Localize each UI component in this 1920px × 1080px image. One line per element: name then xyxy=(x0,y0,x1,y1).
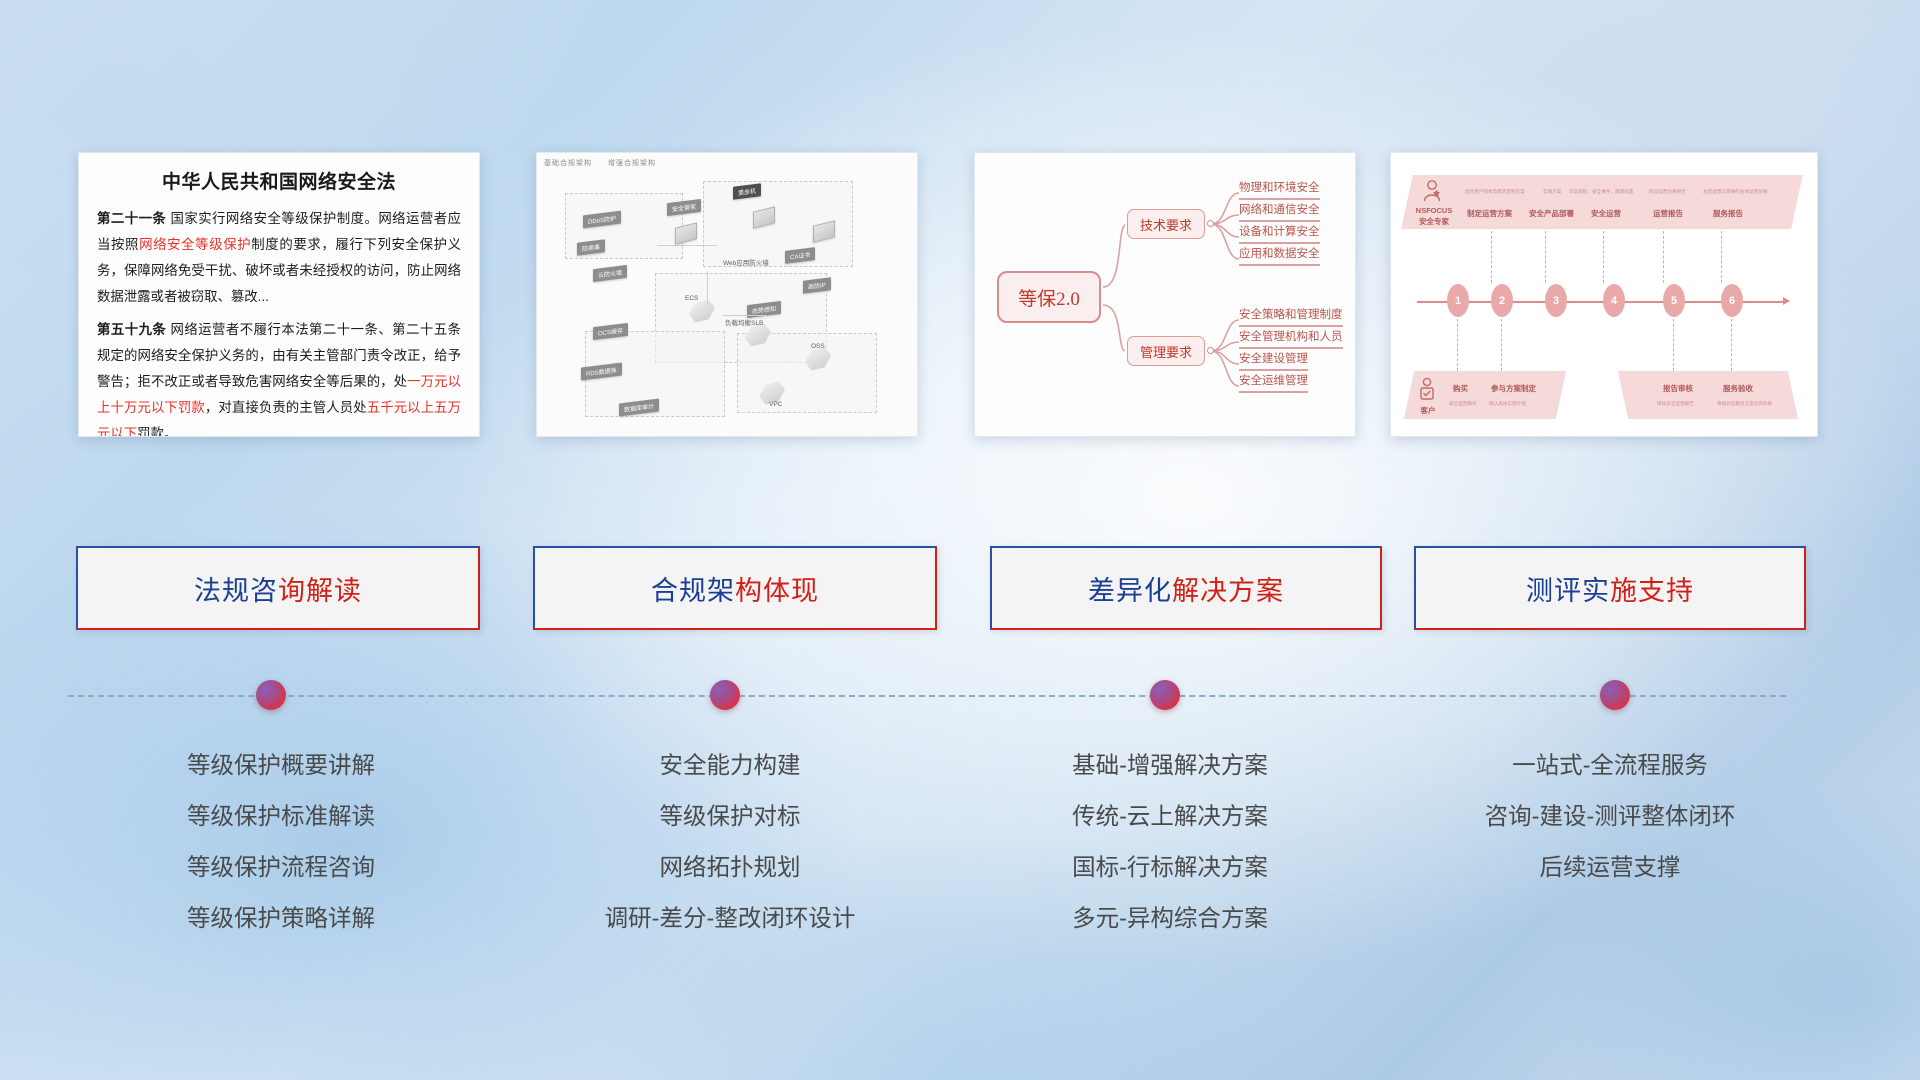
mindmap-canvas: 等保2.0 技术要求 管理要求 物理和环境安全 网络和通信安全 设备和计算安全 … xyxy=(975,153,1355,436)
timeline-dot-3[interactable] xyxy=(1150,680,1180,710)
detail-column-1: 等级保护概要讲解 等级保护标准解读 等级保护流程咨询 等级保护策略详解 xyxy=(96,740,466,944)
law-article-21-highlight: 网络安全等级保护 xyxy=(139,237,251,252)
section-title-box-3[interactable]: 差异化解决方案 xyxy=(990,546,1382,630)
arch-chip-security-butler: 安全管家 xyxy=(667,199,701,216)
mindmap-dot-technical[interactable] xyxy=(1207,220,1214,227)
section-title-text-4: 测评实施支持 xyxy=(1526,569,1694,608)
arch-text-vpc: VPC xyxy=(769,401,782,408)
nsfocus-top-title-2: 安全产品部署 xyxy=(1529,208,1574,219)
mindmap-leaf-ops-mgmt: 安全运维管理 xyxy=(1239,372,1308,393)
section-title-2-red: 构体现 xyxy=(735,576,819,606)
section-title-2-blue: 合规架 xyxy=(651,576,735,606)
nsfocus-top-sub-2: 实施方案 xyxy=(1543,189,1561,195)
nsfocus-bottom-sub-3: 审核安全运营报告 xyxy=(1657,401,1694,407)
nsfocus-customer-label: 客户 xyxy=(1411,405,1445,416)
arch-label-enhanced: 增强合规架构 xyxy=(608,160,656,167)
nsfocus-bottom-band-right xyxy=(1618,371,1798,419)
section-title-3-blue: 差异化 xyxy=(1088,576,1172,606)
section-title-1-red: 询解读 xyxy=(278,576,362,606)
nsfocus-step-number-3[interactable]: 3 xyxy=(1545,284,1567,317)
arch-connector-1 xyxy=(657,245,717,246)
card-nsfocus-timeline[interactable]: NSFOCUS 安全专家 结合客户现状及需求定制方案 制定运营方案 实施方案 安… xyxy=(1390,152,1818,437)
nsfocus-top-sub-4: 阶段运营效果报告 xyxy=(1649,189,1686,195)
mindmap-root-node[interactable]: 等保2.0 xyxy=(997,271,1101,323)
law-document: 中华人民共和国网络安全法 第二十一条 国家实行网络安全等级保护制度。网络运营者应… xyxy=(79,153,479,437)
section-title-box-4[interactable]: 测评实施支持 xyxy=(1414,546,1806,630)
mindmap-leaf-network-comm: 网络和通信安全 xyxy=(1239,201,1320,222)
nsfocus-tick-b3 xyxy=(1673,319,1674,371)
list-item: 一站式-全流程服务 xyxy=(1425,740,1795,791)
nsfocus-top-sub-1: 结合客户现状及需求定制方案 xyxy=(1465,189,1525,195)
nsfocus-bottom-sub-1: 安全运营服务 xyxy=(1449,401,1477,407)
list-item: 调研-差分-整改闭环设计 xyxy=(545,893,915,944)
timeline-dot-4[interactable] xyxy=(1600,680,1630,710)
nsfocus-step-number-5[interactable]: 5 xyxy=(1663,284,1685,317)
nsfocus-bottom-title-1: 购买 xyxy=(1453,383,1468,394)
list-item: 等级保护概要讲解 xyxy=(96,740,466,791)
arch-connector-3 xyxy=(723,315,767,316)
arch-text-waf: Web应用防火墙 xyxy=(723,257,769,267)
arch-text-oss: OSS xyxy=(811,343,825,350)
mindmap-leaf-construction-mgmt: 安全建设管理 xyxy=(1239,350,1308,371)
timeline-dashed-line xyxy=(68,695,1786,697)
detail-column-3: 基础-增强解决方案 传统-云上解决方案 国标-行标解决方案 多元-异构综合方案 xyxy=(985,740,1355,944)
mindmap-leaf-device-compute: 设备和计算安全 xyxy=(1239,223,1320,244)
section-title-1-blue: 法规咨 xyxy=(194,576,278,606)
card-cybersecurity-law[interactable]: 中华人民共和国网络安全法 第二十一条 国家实行网络安全等级保护制度。网络运营者应… xyxy=(78,152,480,437)
list-item: 基础-增强解决方案 xyxy=(985,740,1355,791)
list-item: 网络拓扑规划 xyxy=(545,842,915,893)
nsfocus-step-number-2[interactable]: 2 xyxy=(1491,284,1513,317)
law-article-59: 第五十九条 网络运营者不履行本法第二十一条、第二十五条规定的网络安全保护义务的，… xyxy=(97,317,461,437)
law-title: 中华人民共和国网络安全法 xyxy=(97,167,461,194)
law-article-21: 第二十一条 国家实行网络安全等级保护制度。网络运营者应当按照网络安全等级保护制度… xyxy=(97,206,461,310)
nsfocus-top-title-1: 制定运营方案 xyxy=(1467,208,1512,219)
nsfocus-step-number-4[interactable]: 4 xyxy=(1603,284,1625,317)
law-article-59-label: 第五十九条 xyxy=(97,322,166,337)
mindmap-leaf-policy-system: 安全策略和管理制度 xyxy=(1239,306,1343,327)
nsfocus-tick-5 xyxy=(1721,231,1722,283)
nsfocus-top-title-4: 运营报告 xyxy=(1653,208,1683,219)
architecture-canvas: 基础合规架构增强合规架构 堡垒机 安全管家 DDoS防护 防病毒 云防火墙 CA… xyxy=(537,153,917,436)
detail-column-4: 一站式-全流程服务 咨询-建设-测评整体闭环 后续运营支撑 xyxy=(1425,740,1795,893)
nsfocus-canvas: NSFOCUS 安全专家 结合客户现状及需求定制方案 制定运营方案 实施方案 安… xyxy=(1391,153,1817,436)
nsfocus-tick-3 xyxy=(1603,231,1604,283)
mindmap-branch-technical[interactable]: 技术要求 xyxy=(1127,209,1205,239)
nsfocus-brand: NSFOCUS xyxy=(1409,206,1459,215)
nsfocus-top-title-3: 安全运营 xyxy=(1591,208,1621,219)
nsfocus-top-band xyxy=(1401,175,1802,229)
mindmap-leaf-app-data: 应用和数据安全 xyxy=(1239,245,1320,266)
nsfocus-brand-sub: 安全专家 xyxy=(1409,216,1459,227)
mindmap-branch-management[interactable]: 管理要求 xyxy=(1127,336,1205,366)
arch-text-slb: 负载均衡SLB xyxy=(725,317,763,327)
arch-region-right xyxy=(737,333,877,413)
nsfocus-top-title-5: 服务报告 xyxy=(1713,208,1743,219)
nsfocus-bottom-title-3: 报告审核 xyxy=(1663,383,1693,394)
law-article-59-text-c: 罚款。 xyxy=(137,426,177,437)
detail-column-2: 安全能力构建 等级保护对标 网络拓扑规划 调研-差分-整改闭环设计 xyxy=(545,740,915,944)
section-title-box-2[interactable]: 合规架构体现 xyxy=(533,546,937,630)
list-item: 等级保护标准解读 xyxy=(96,791,466,842)
list-item: 等级保护流程咨询 xyxy=(96,842,466,893)
nsfocus-tick-b2 xyxy=(1501,319,1502,371)
arch-label-basic: 基础合规架构 xyxy=(544,160,592,167)
nsfocus-top-sub-3: 日常巡检、安全事件、漏洞处置 xyxy=(1569,189,1633,195)
nsfocus-bottom-sub-4: 审核验证服务方案达到效果 xyxy=(1717,401,1772,407)
list-item: 等级保护策略详解 xyxy=(96,893,466,944)
arch-connector-2 xyxy=(707,271,708,305)
law-article-21-label: 第二十一条 xyxy=(97,211,166,226)
list-item: 多元-异构综合方案 xyxy=(985,893,1355,944)
list-item: 传统-云上解决方案 xyxy=(985,791,1355,842)
list-item: 国标-行标解决方案 xyxy=(985,842,1355,893)
section-title-3-red: 解决方案 xyxy=(1172,576,1284,606)
customer-icon xyxy=(1417,377,1437,403)
list-item: 等级保护对标 xyxy=(545,791,915,842)
security-expert-icon xyxy=(1421,179,1443,205)
nsfocus-step-number-6[interactable]: 6 xyxy=(1721,284,1743,317)
nsfocus-bottom-title-2: 参与方案制定 xyxy=(1491,383,1536,394)
section-title-text-1: 法规咨询解读 xyxy=(194,569,362,608)
card-mindmap[interactable]: 等保2.0 技术要求 管理要求 物理和环境安全 网络和通信安全 设备和计算安全 … xyxy=(974,152,1356,437)
nsfocus-step-number-1[interactable]: 1 xyxy=(1447,284,1469,317)
section-title-text-2: 合规架构体现 xyxy=(651,569,819,608)
section-title-text-3: 差异化解决方案 xyxy=(1088,569,1284,608)
law-article-59-text-b: ，对直接负责的主管人员处 xyxy=(205,400,367,415)
nsfocus-tick-b1 xyxy=(1457,319,1458,371)
mindmap-leaf-org-personnel: 安全管理机构和人员 xyxy=(1239,328,1343,349)
arch-text-ecs: ECS xyxy=(685,295,698,302)
nsfocus-axis-arrow-icon xyxy=(1783,297,1790,305)
architecture-top-labels: 基础合规架构增强合规架构 xyxy=(544,158,672,168)
section-title-4-red: 施支持 xyxy=(1610,576,1694,606)
card-architecture-diagram[interactable]: 基础合规架构增强合规架构 堡垒机 安全管家 DDoS防护 防病毒 云防火墙 CA… xyxy=(536,152,918,437)
nsfocus-bottom-sub-2: 确认具体实施计划 xyxy=(1489,401,1526,407)
section-title-box-1[interactable]: 法规咨询解读 xyxy=(76,546,480,630)
timeline-dot-2[interactable] xyxy=(710,680,740,710)
arch-chip-firewall: 云防火墙 xyxy=(593,265,627,282)
list-item: 后续运营支撑 xyxy=(1425,842,1795,893)
nsfocus-tick-b4 xyxy=(1731,319,1732,371)
mindmap-leaf-physical-env: 物理和环境安全 xyxy=(1239,179,1320,200)
list-item: 咨询-建设-测评整体闭环 xyxy=(1425,791,1795,842)
section-title-4-blue: 测评实 xyxy=(1526,576,1610,606)
timeline-dot-1[interactable] xyxy=(256,680,286,710)
nsfocus-tick-2 xyxy=(1545,231,1546,283)
list-item: 安全能力构建 xyxy=(545,740,915,791)
nsfocus-bottom-title-4: 服务验收 xyxy=(1723,383,1753,394)
nsfocus-tick-1 xyxy=(1491,231,1492,283)
nsfocus-top-sub-5: 总结运营与需要的总体运营效果 xyxy=(1703,189,1767,195)
mindmap-dot-management[interactable] xyxy=(1207,347,1214,354)
nsfocus-tick-4 xyxy=(1663,231,1664,283)
